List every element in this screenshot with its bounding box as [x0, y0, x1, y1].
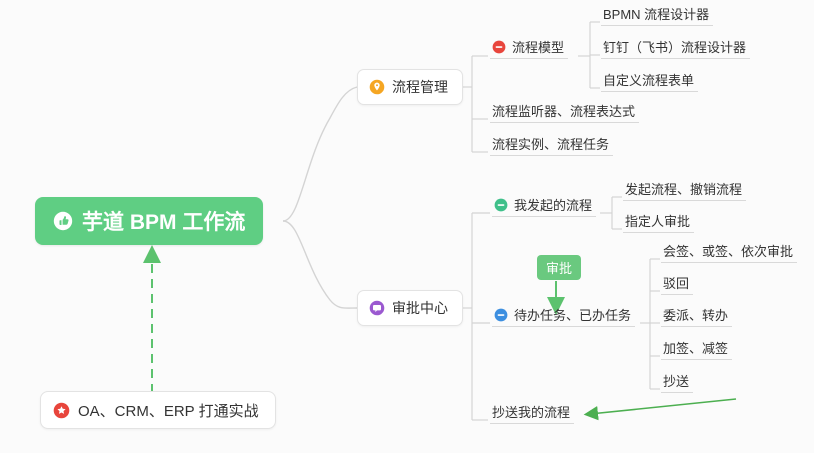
- node-todo-done[interactable]: 待办任务、已办任务: [492, 305, 635, 327]
- node-process-management[interactable]: 流程管理: [357, 69, 463, 105]
- node-delegate-transfer[interactable]: 委派、转办: [661, 305, 732, 327]
- node-label: 驳回: [663, 276, 689, 291]
- node-label: 流程模型: [512, 40, 564, 55]
- node-reject[interactable]: 驳回: [661, 273, 693, 295]
- node-label: 流程管理: [392, 77, 448, 97]
- node-label: 加签、减签: [663, 341, 728, 356]
- node-bpmn-designer[interactable]: BPMN 流程设计器: [601, 4, 713, 26]
- minus-circle-icon: [494, 308, 508, 323]
- node-label: 流程实例、流程任务: [492, 137, 609, 152]
- location-pin-icon: [369, 79, 385, 95]
- node-my-started[interactable]: 我发起的流程: [492, 195, 596, 217]
- minus-circle-icon: [494, 198, 508, 213]
- node-cc-to-me[interactable]: 抄送我的流程: [490, 402, 574, 424]
- node-label: 钉钉（飞书）流程设计器: [603, 40, 746, 55]
- node-label: 我发起的流程: [514, 198, 592, 213]
- root-label: 芋道 BPM 工作流: [82, 206, 245, 236]
- mindmap-canvas: 芋道 BPM 工作流 流程管理 流程模型 BPMN 流程设计器 钉钉（飞书）流程…: [0, 0, 814, 453]
- node-cc[interactable]: 抄送: [661, 371, 693, 393]
- node-multi-sign[interactable]: 会签、或签、依次审批: [661, 241, 797, 263]
- star-circle-icon: [53, 402, 70, 419]
- node-label: 自定义流程表单: [603, 73, 694, 88]
- node-process-model[interactable]: 流程模型: [490, 37, 568, 59]
- node-label: 流程监听器、流程表达式: [492, 104, 635, 119]
- node-dingtalk-designer[interactable]: 钉钉（飞书）流程设计器: [601, 37, 750, 59]
- node-start-cancel[interactable]: 发起流程、撤销流程: [623, 179, 746, 201]
- node-approval-center[interactable]: 审批中心: [357, 290, 463, 326]
- node-oa-crm-erp[interactable]: OA、CRM、ERP 打通实战: [40, 391, 276, 429]
- node-label: OA、CRM、ERP 打通实战: [78, 400, 259, 421]
- badge-approval[interactable]: 审批: [537, 255, 581, 280]
- node-label: 会签、或签、依次审批: [663, 244, 793, 259]
- node-custom-form[interactable]: 自定义流程表单: [601, 70, 698, 92]
- minus-circle-icon: [492, 40, 506, 55]
- node-add-remove-sign[interactable]: 加签、减签: [661, 338, 732, 360]
- node-label: 发起流程、撤销流程: [625, 182, 742, 197]
- node-instance-task[interactable]: 流程实例、流程任务: [490, 134, 613, 156]
- node-label: 抄送: [663, 374, 689, 389]
- node-label: BPMN 流程设计器: [603, 7, 709, 22]
- node-label: 抄送我的流程: [492, 405, 570, 420]
- badge-label: 审批: [546, 258, 572, 277]
- node-assign-approver[interactable]: 指定人审批: [623, 211, 694, 233]
- thumbs-up-icon: [53, 211, 73, 231]
- root-node[interactable]: 芋道 BPM 工作流: [35, 197, 263, 245]
- node-label: 委派、转办: [663, 308, 728, 323]
- node-label: 待办任务、已办任务: [514, 308, 631, 323]
- node-label: 审批中心: [392, 298, 448, 318]
- node-listener-expression[interactable]: 流程监听器、流程表达式: [490, 101, 639, 123]
- message-icon: [369, 300, 385, 316]
- node-label: 指定人审批: [625, 214, 690, 229]
